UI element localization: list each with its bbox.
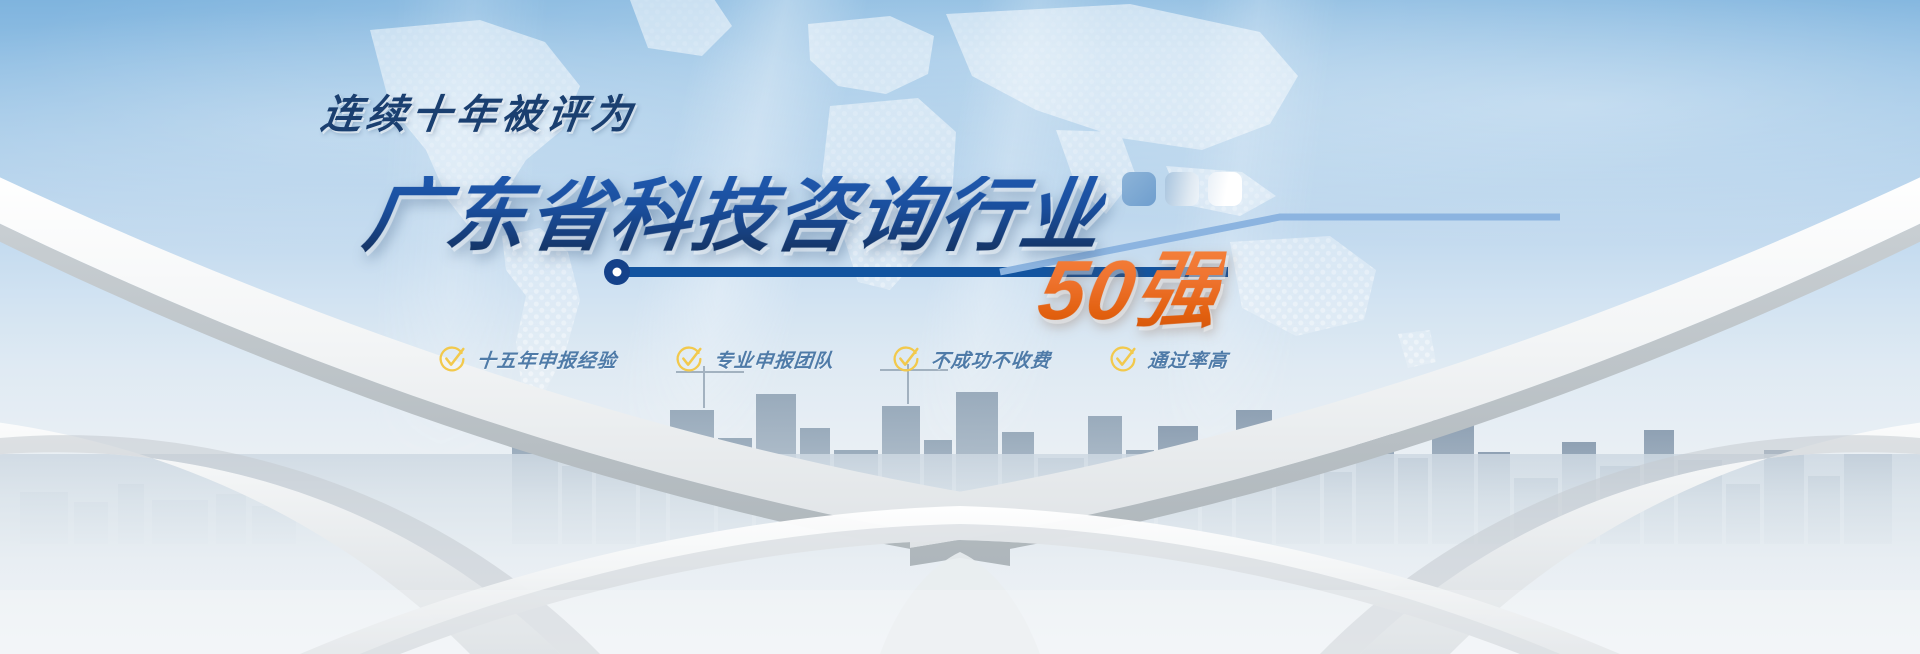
feature-label-2: 专业申报团队 [713, 346, 836, 373]
feature-item-3[interactable]: 不成功不收费 [892, 345, 1051, 373]
promo-banner: 连续十年被评为 广东省科技咨询行业 50强 十五年申报经验 专业申报团队 不 [0, 0, 1920, 654]
feature-item-4[interactable]: 通过率高 [1109, 345, 1228, 373]
square-2-icon [1165, 172, 1199, 206]
feature-label-3: 不成功不收费 [930, 346, 1053, 373]
feature-item-2[interactable]: 专业申报团队 [675, 345, 834, 373]
decorative-squares [1122, 172, 1242, 206]
check-circle-icon [1109, 345, 1137, 373]
square-3-icon [1208, 172, 1242, 206]
check-circle-icon [438, 345, 466, 373]
feature-item-1[interactable]: 十五年申报经验 [438, 345, 617, 373]
feature-list: 十五年申报经验 专业申报团队 不成功不收费 通过率高 [438, 345, 1228, 373]
feature-label-1: 十五年申报经验 [476, 346, 619, 373]
square-1-icon [1122, 172, 1156, 206]
check-circle-icon [892, 345, 920, 373]
stepped-connector-line [0, 0, 1920, 654]
check-circle-icon [675, 345, 703, 373]
feature-label-4: 通过率高 [1147, 346, 1230, 373]
